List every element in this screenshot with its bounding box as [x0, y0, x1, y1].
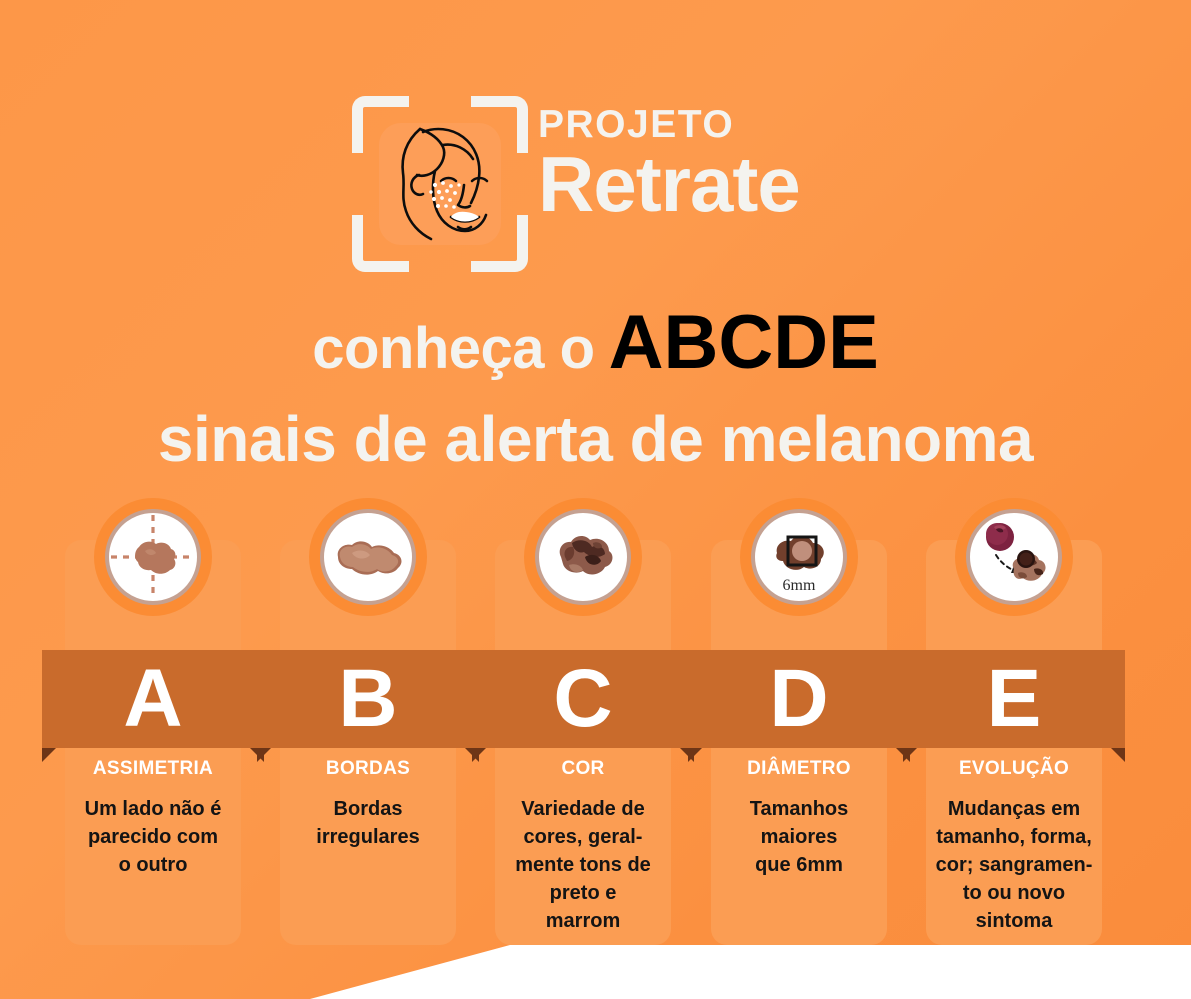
fold-shadow-left-icon	[903, 748, 917, 762]
card-letter: A	[123, 658, 182, 740]
card-title: BORDAS	[280, 758, 456, 780]
brand-line-retrate: Retrate	[538, 142, 838, 226]
brand-wordmark: PROJETO Retrate	[538, 104, 838, 226]
woman-face-freckles-icon	[379, 123, 501, 245]
fold-shadow-left-icon	[42, 748, 56, 762]
face-scan-frame-icon	[352, 96, 528, 272]
card-description: Mudanças em tamanho, forma, cor; sangram…	[930, 795, 1098, 935]
fold-shadow-right-icon	[1111, 748, 1125, 762]
card-letter-band: A	[42, 650, 264, 748]
evolution-arrow-lesion-icon	[966, 509, 1062, 605]
infographic-poster: PROJETO Retrate conheça oABCDE sinais de…	[0, 0, 1191, 999]
fold-shadow-left-icon	[257, 748, 271, 762]
card-title: ASSIMETRIA	[65, 758, 241, 780]
card-icon-badge	[94, 498, 212, 616]
card-letter: C	[553, 658, 612, 740]
abcde-card-list: A ASSIMETRIA Um lado não é parecido com …	[65, 540, 1127, 950]
headline-abcde: ABCDE	[609, 300, 879, 385]
card-letter: D	[769, 658, 828, 740]
card-description: Um lado não é parecido com o outro	[69, 795, 237, 879]
card-letter-band: E	[903, 650, 1125, 748]
fold-shadow-left-icon	[472, 748, 486, 762]
card-letter: B	[338, 658, 397, 740]
diameter-measure-lesion-icon: 6mm	[751, 509, 847, 605]
diameter-measure-label: 6mm	[755, 577, 843, 595]
card-bordas[interactable]: B BORDAS Bordas irregulares	[280, 540, 456, 945]
asymmetry-crosshair-lesion-icon	[105, 509, 201, 605]
card-description: Bordas irregulares	[284, 795, 452, 851]
card-icon-badge	[955, 498, 1073, 616]
card-evolucao[interactable]: E EVOLUÇÃO Mudanças em tamanho, forma, c…	[926, 540, 1102, 945]
fold-shadow-left-icon	[688, 748, 702, 762]
card-title: EVOLUÇÃO	[926, 758, 1102, 780]
headline-line-1: conheça oABCDE	[0, 306, 1191, 401]
card-description: Variedade de cores, geral- mente tons de…	[499, 795, 667, 935]
card-diametro[interactable]: 6mm D DIÂMETRO Tamanhos maiores que 6mm	[711, 540, 887, 945]
card-cor[interactable]: C COR Variedade de cores, geral- mente t…	[495, 540, 671, 945]
card-icon-badge	[524, 498, 642, 616]
card-icon-badge	[309, 498, 427, 616]
multicolor-lesion-icon	[535, 509, 631, 605]
headline-line-2: sinais de alerta de melanoma	[0, 401, 1191, 477]
card-assimetria[interactable]: A ASSIMETRIA Um lado não é parecido com …	[65, 540, 241, 945]
card-letter-band: C	[472, 650, 694, 748]
card-letter-band: B	[257, 650, 479, 748]
card-letter-band: D	[688, 650, 910, 748]
card-title: DIÂMETRO	[711, 758, 887, 780]
card-letter: E	[987, 658, 1042, 740]
card-icon-badge: 6mm	[740, 498, 858, 616]
brand-logo: PROJETO Retrate	[352, 96, 842, 276]
headline-prefix: conheça o	[312, 316, 594, 381]
card-title: COR	[495, 758, 671, 780]
page-title: conheça oABCDE sinais de alerta de melan…	[0, 306, 1191, 477]
card-description: Tamanhos maiores que 6mm	[715, 795, 883, 879]
irregular-border-lesion-icon	[320, 509, 416, 605]
